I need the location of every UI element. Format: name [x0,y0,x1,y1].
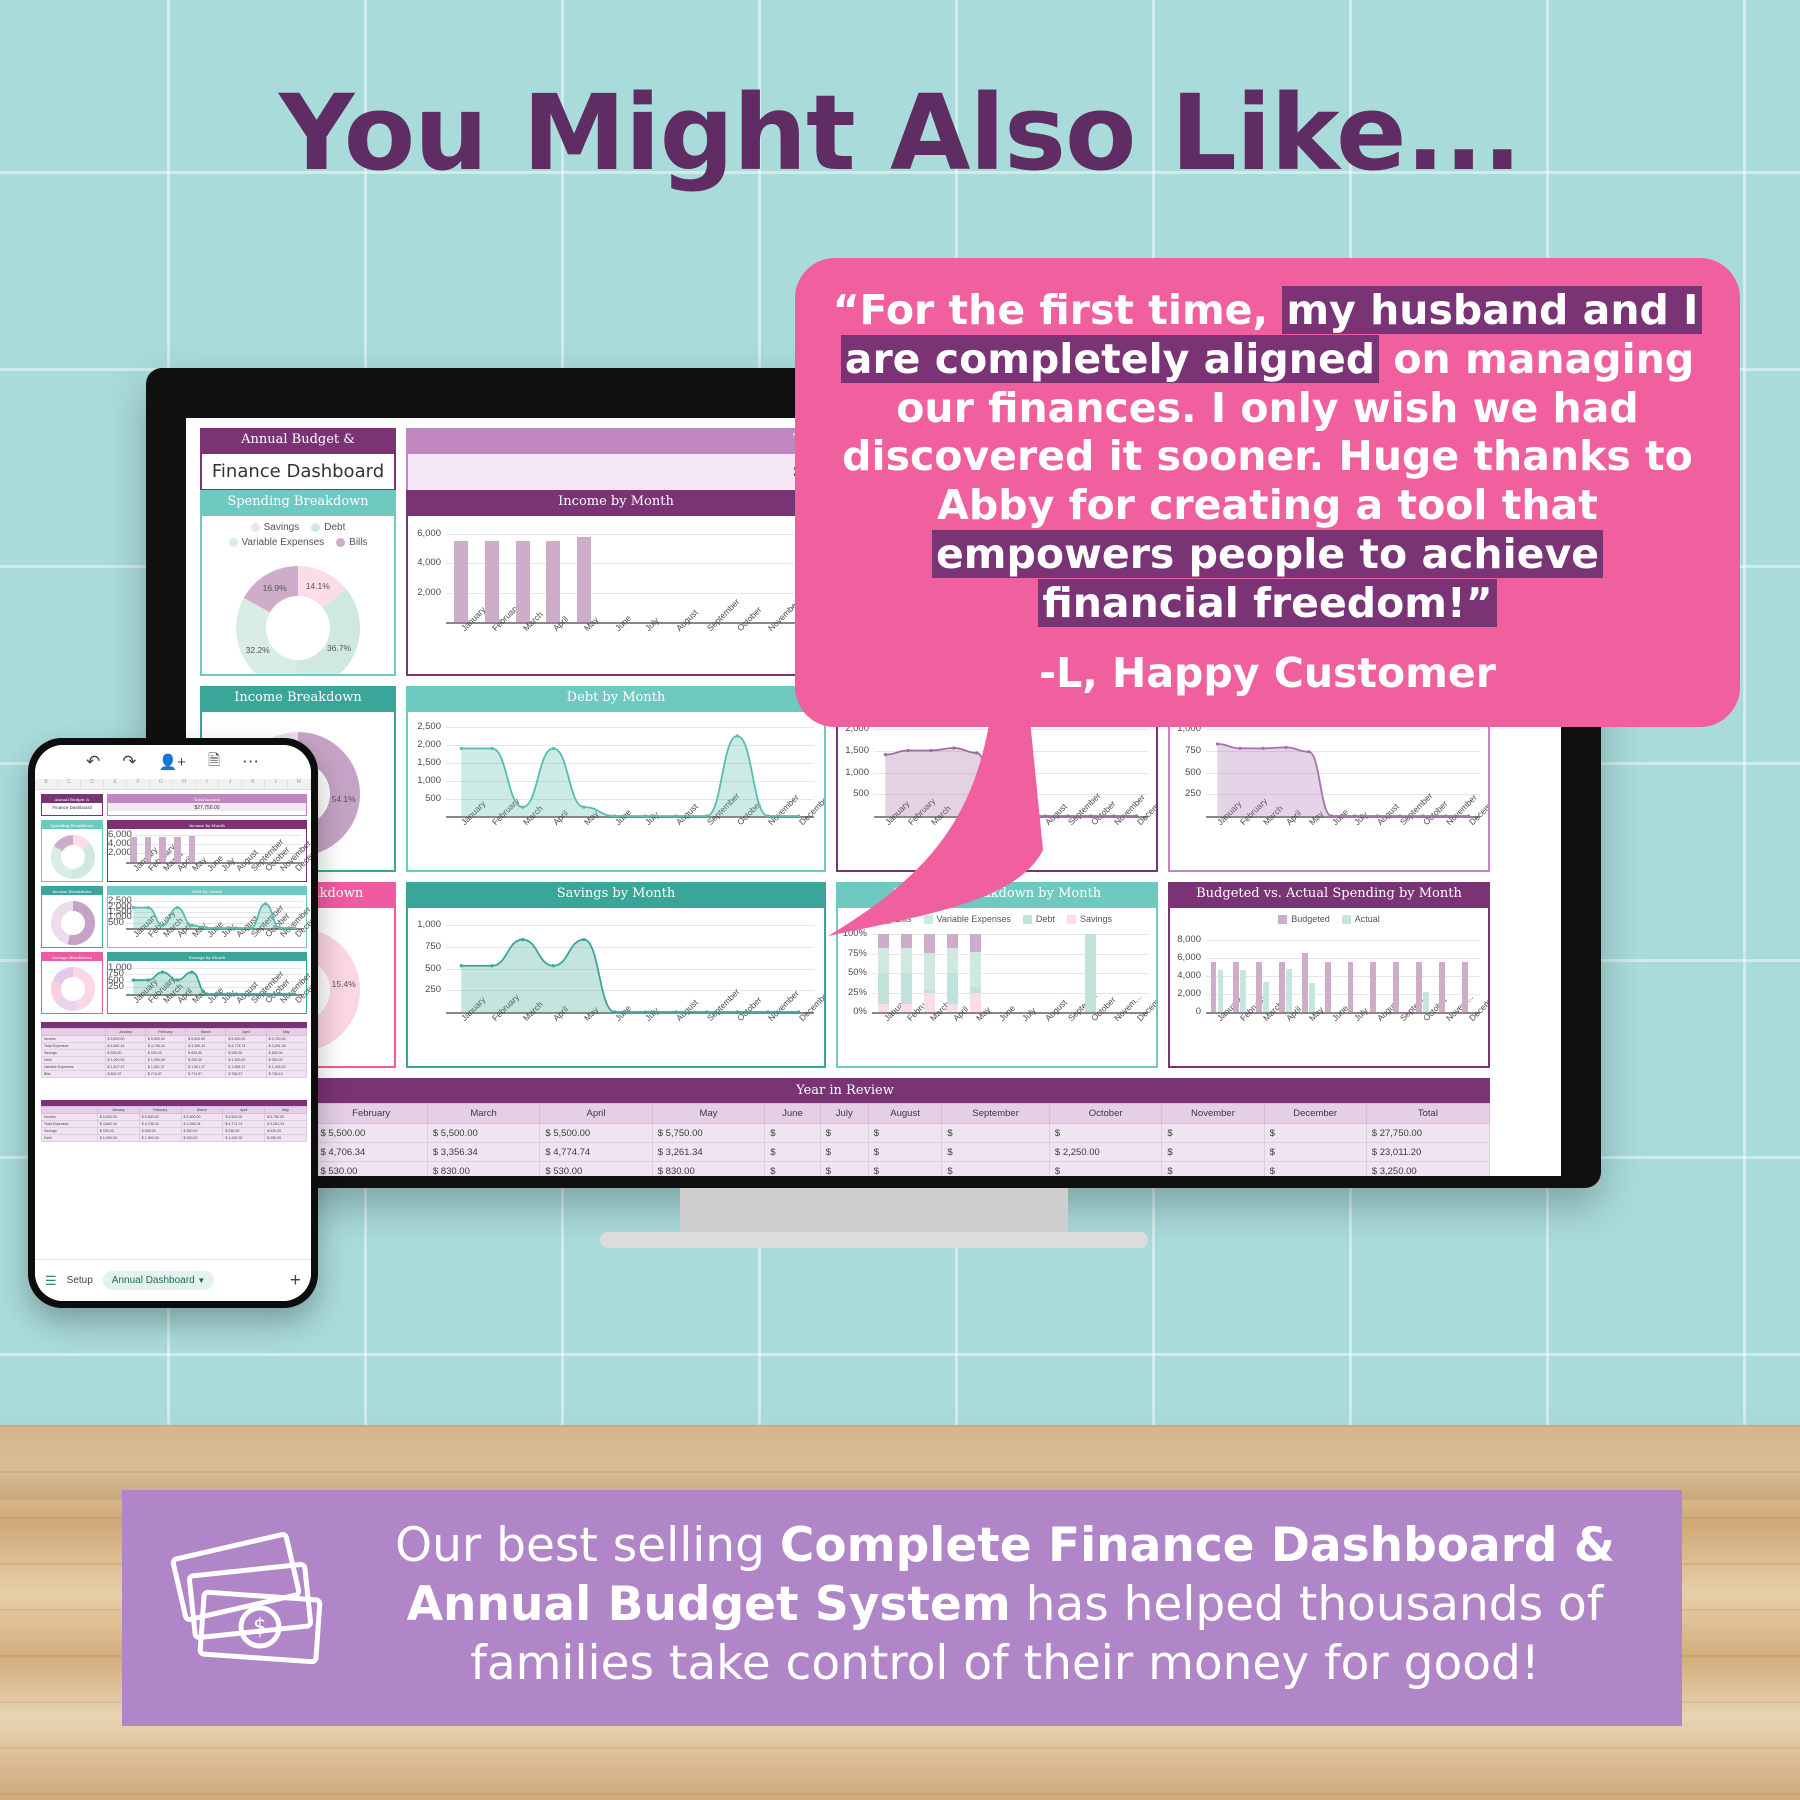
table-row: Savings$ 530.00$ 530.00$ 830.00$ 530.00$… [42,1050,307,1057]
data-point [234,926,237,929]
column-header: February [145,1029,185,1036]
data-point [264,902,267,905]
testimonial-segment-0: “For the first time, [833,286,1283,334]
table-cell: $ 530.00 [139,1128,181,1135]
column-header: May [652,1104,764,1124]
bar [1439,962,1445,1012]
table-cell: $ [765,1124,821,1143]
data-point [644,815,647,818]
savings-by-month-area [108,962,306,1012]
legend-label: Savings [1080,914,1112,924]
y-tick-label: 25% [838,987,867,998]
stack-segment [901,973,913,1004]
data-point [1135,815,1138,818]
data-point [1307,750,1310,753]
stack-segment [947,1004,959,1013]
table-cell: $ 4,774.74 [223,1121,265,1128]
phone-savings-by-month-title: Savings by Month [108,953,306,961]
donut-value-label: 16.9% [255,583,295,593]
column-header: February [139,1107,181,1114]
debt-by-month-panel-title: Debt by Month [406,686,826,710]
legend-swatch [1278,915,1287,924]
x-tick-label: August [1043,998,1069,1024]
data-point [1261,747,1264,750]
donut-slice [295,599,345,676]
data-point [1467,815,1470,818]
x-tick-label: September [705,597,741,633]
data-point [644,1011,647,1014]
table-cell: $ [868,1124,942,1143]
y-tick-label: 6,000 [1170,952,1201,963]
row-label: Debt [42,1135,98,1142]
donut-slice [58,998,76,1006]
phone-total-income-title: Total Income [108,795,306,803]
table-cell: $ 1,501.37 [186,1064,226,1071]
bar [1302,953,1308,1012]
row-label: Savings [42,1128,98,1135]
phone-savings-breakdown-title: Savings Breakdown [42,953,102,961]
chart-legend: BudgetedActual [1170,908,1488,926]
x-tick-label: August [674,608,700,634]
table-cell: $ 830.00 [265,1128,307,1135]
budgeted-vs-actual-panel-body: BudgetedActual02,0004,0006,0008,000Janua… [1168,906,1490,1068]
data-point [161,924,164,927]
table-cell: $ [1162,1143,1264,1162]
table-cell: $ 774.97 [186,1071,226,1078]
table-cell: $ [1049,1124,1161,1143]
svg-text:$: $ [253,1615,267,1640]
gridline [1206,940,1480,941]
chevron-down-icon[interactable]: ▼ [197,1276,205,1285]
bills-by-month-area [1170,712,1488,870]
table-cell: $ 530.00 [97,1128,139,1135]
phone-screen: ↶ ↷ 👤+ 🗎 ⋯ BCDEFGHIJKLM Annual Budget &F… [35,745,311,1301]
phone-column-letter: M [288,779,311,789]
bar [1211,962,1217,1013]
x-tick-label: June [613,613,633,633]
budgeted-vs-actual-panel-title: Budgeted vs. Actual Spending by Month [1168,882,1490,906]
savings-by-month-area [408,908,824,1066]
table-cell: $ [820,1143,868,1162]
table-row: Income$ 5,500.00$ 5,500.00$ 5,500.00$ 5,… [42,1114,307,1121]
bar [159,837,166,862]
phone-chart-area: 2,0004,0006,000JanuaryFebruaryMarchApril… [108,830,306,880]
legend-item: Savings [251,522,300,533]
table-header-row: JanuaryFebruaryMarchAprilMay [42,1107,307,1114]
table-cell: $ 5,500.00 [181,1114,223,1121]
column-header: May [265,1107,307,1114]
legend-swatch [251,523,260,532]
data-point [460,747,463,750]
promo-text: Our best selling Complete Finance Dashbo… [368,1516,1642,1694]
table-cell: $ 530.00 [226,1050,266,1057]
phone-column-letter: H [173,779,196,789]
data-point [220,926,223,929]
testimonial-attribution: -L, Happy Customer [829,649,1706,697]
table-cell: $ [1264,1162,1366,1177]
income-by-month-panel: Income by Month2,0004,0006,000JanuaryFeb… [406,490,826,676]
phone-column-headers: BCDEFGHIJKLM [35,779,311,790]
donut-slice [56,849,72,874]
area-fill [461,940,798,1012]
table-cell: $ 3,261.34 [265,1121,307,1128]
phone-column-letter: E [104,779,127,789]
phone-column-letter: C [58,779,81,789]
phone-column-letter: K [242,779,265,789]
phone-chart-area: 2505007501,000JanuaryFebruaryMarchAprilM… [108,962,306,1012]
table-cell: $ 830.00 [266,1050,306,1057]
spending-breakdown-panel-title: Spending Breakdown [200,490,396,514]
legend-swatch [1342,915,1351,924]
table-cell: $ 4,774.74 [226,1043,266,1050]
gridline [446,563,814,564]
phone-spending-breakdown-title: Spending Breakdown [42,821,102,829]
add-person-icon[interactable]: 👤+ [159,753,186,771]
table-cell: $ [868,1162,942,1177]
row-label: Total Expenses [42,1043,106,1050]
data-point [132,978,135,981]
column-header: September [942,1104,1050,1124]
table-cell: $ 3,261.34 [652,1143,764,1162]
row-label: Total Expenses [42,1121,98,1128]
legend-label: Savings [264,522,300,533]
data-point [1284,746,1287,749]
column-header [42,1029,106,1036]
stack-segment [878,973,890,1004]
data-point [797,815,800,818]
spending-breakdown-panel-body: SavingsDebtVariable ExpensesBills14.1%36… [200,514,396,676]
more-icon[interactable]: ⋯ [242,752,260,772]
income-by-month-panel-body: 2,0004,0006,000JanuaryFebruaryMarchApril… [406,514,826,676]
data-point [190,971,193,974]
bar [1462,962,1468,1012]
income-by-month-panel-title: Income by Month [406,490,826,514]
data-point [490,747,493,750]
data-point [521,806,524,809]
table-cell: $ 774.97 [145,1071,185,1078]
table-cell: $ 530.00 [145,1050,185,1057]
table-cell: $ 786.37 [226,1071,266,1078]
table-cell: $ 4,706.34 [139,1121,181,1128]
table-cell: $ [765,1143,821,1162]
table-row: Debt$ 1,900.00$ 1,900.00$ 250.00$ 1,900.… [42,1057,307,1064]
x-tick-label: July [643,616,661,634]
table-cell: $ 5,500.00 [315,1124,427,1143]
phone-year-in-review: JanuaryFebruaryMarchAprilMayIncome$ 5,50… [41,1022,307,1078]
table-cell: $ 5,500.00 [226,1036,266,1043]
column-header: April [540,1104,652,1124]
data-point [161,971,164,974]
undo-icon[interactable]: ↶ [86,752,100,772]
table-cell: $ 830.00 [186,1050,226,1057]
area-fill [461,736,798,816]
data-point [797,1011,800,1014]
data-point [1216,743,1219,746]
chart-legend: SavingsDebtVariable ExpensesBills [202,516,394,550]
phone-toolbar: ↶ ↷ 👤+ 🗎 ⋯ [35,745,311,779]
legend-item: Debt [311,522,345,533]
table-cell: $ 3,356.34 [186,1043,226,1050]
donut-slice [57,972,73,982]
bar [516,541,530,622]
table-cell: $ 1,900.00 [145,1057,185,1064]
donut-slice [58,840,73,849]
bar [174,837,181,862]
phone-secondary-table-table: JanuaryFebruaryMarchAprilMayIncome$ 5,50… [41,1106,307,1142]
gridline [446,593,814,594]
bar [454,541,468,622]
data-point [1089,815,1092,818]
phone-savings-breakdown: Savings Breakdown [41,952,103,1014]
legend-item: Budgeted [1278,914,1330,924]
table-row: Income$ 5,500.00$ 5,500.00$ 5,500.00$ 5,… [201,1124,1490,1143]
phone-debt-by-month: Debt by Month5001,0001,5002,0002,500Janu… [107,886,307,948]
phone-device: ↶ ↷ 👤+ 🗎 ⋯ BCDEFGHIJKLM Annual Budget &F… [28,738,318,1308]
y-tick-label: 6,000 [408,528,441,539]
table-cell: $ 5,500.00 [97,1114,139,1121]
legend-label: Variable Expenses [242,537,325,548]
gridline [446,534,814,535]
table-header-row: JanuaryFebruaryMarchAprilMayJuneJulyAugu… [201,1104,1490,1124]
data-point [146,906,149,909]
table-cell: $ [942,1162,1050,1177]
legend-label: Budgeted [1291,914,1330,924]
table-cell: $ 830.00 [652,1162,764,1177]
data-point [146,978,149,981]
data-point [1239,747,1242,750]
stack-segment [970,987,982,993]
data-point [582,938,585,941]
debt-by-month-area [108,896,306,946]
data-point [249,992,252,995]
speech-bubble-tail [828,700,1068,940]
bar [546,541,560,622]
data-point [176,978,179,981]
brand-header: Annual Budget & [200,428,396,452]
gridline [1206,958,1480,959]
year-in-review-table: Year in ReviewJanuaryFebruaryMarchAprilM… [200,1078,1490,1176]
table-cell: $ 4,706.34 [145,1043,185,1050]
data-point [278,992,281,995]
row-label: Income [42,1114,98,1121]
brand-value: Finance Dashboard [200,452,396,491]
add-sheet-button[interactable]: + [290,1270,301,1292]
stack-segment [924,990,936,993]
bar [1348,962,1354,1012]
phone-total-income: Total Income$27,750.00 [107,794,307,816]
data-point [1330,815,1333,818]
sheet-tab-setup[interactable]: Setup [67,1275,93,1286]
table-cell: $ 5,500.00 [223,1114,265,1121]
y-tick-label: 8,000 [1170,934,1201,945]
phone-column-letter: G [150,779,173,789]
table-row: Bills$ 824.97$ 774.97$ 774.97$ 786.37$ 7… [42,1071,307,1078]
gridline [126,835,302,836]
table-cell: $ 5,500.00 [540,1124,652,1143]
year-in-review-title: Year in Review [200,1078,1490,1103]
column-header: June [765,1104,821,1124]
table-cell: $ 3,356.34 [181,1121,223,1128]
y-tick-label: 4,000 [408,557,441,568]
sheet-tab-annual-dashboard[interactable]: Annual Dashboard ▼ [103,1271,215,1290]
bar [1218,970,1224,1012]
bar [1416,962,1422,1012]
donut-slice [56,982,58,998]
table-cell: $ 530.00 [315,1162,427,1177]
phone-column-letter: L [265,779,288,789]
data-point [220,992,223,995]
y-tick-label: 50% [838,967,867,978]
data-point [460,964,463,967]
promo-part-1: Our best selling [395,1518,780,1573]
table-cell: $ 5,750.00 [652,1124,764,1143]
legend-label: Debt [324,522,345,533]
testimonial-segment-7: financial freedom!” [1038,579,1496,627]
budgeted-vs-actual-panel: Budgeted vs. Actual Spending by MonthBud… [1168,882,1490,1068]
phone-income-by-month: Income by Month2,0004,0006,000JanuaryFeb… [107,820,307,882]
table-cell: $ 1,407.47 [105,1064,145,1071]
phone-year-in-review-table: JanuaryFebruaryMarchAprilMayIncome$ 5,50… [41,1028,307,1078]
stack-segment [947,948,959,973]
hamburger-icon[interactable]: ☰ [45,1273,57,1289]
table-row: Total Expenses$ 4,662.44$ 4,706.34$ 3,35… [42,1043,307,1050]
table-cell: $ 1,445.22 [266,1064,306,1071]
row-label: Debt [42,1057,106,1064]
table-cell: $ 250.00 [265,1135,307,1142]
table-cell: $ 5,500.00 [139,1114,181,1121]
redo-icon[interactable]: ↷ [122,752,136,772]
debt-by-month-panel: Debt by Month5001,0001,5002,0002,500Janu… [406,686,826,872]
donut-slice [69,906,90,940]
y-tick-label: 0% [838,1006,867,1017]
table-cell: $ 1,900.00 [226,1057,266,1064]
stack-segment [1085,934,1097,1012]
legend-label: Actual [1355,914,1380,924]
phone-income-breakdown: Income Breakdown [41,886,103,948]
area-fill [1217,744,1468,816]
x-tick-label: October [735,605,763,633]
table-row: Total Expenses$ 4,662.44$ 4,706.34$ 3,35… [42,1121,307,1128]
table-cell: $ [1162,1124,1264,1143]
table-cell: $ 530.00 [540,1162,652,1177]
bar [1279,962,1285,1013]
table-row: Total Expenses$ 4,662.44$ 4,706.34$ 3,35… [201,1143,1490,1162]
donut-value-label: 36.7% [319,643,359,653]
table-cell: $ 5,500.00 [105,1036,145,1043]
table-cell: $ 5,500.00 [145,1036,185,1043]
table-cell: $ 1,900.00 [139,1135,181,1142]
data-point [293,926,296,929]
promo-banner: $ Our best selling Complete Finance Dash… [122,1490,1682,1726]
table-row: Variable Expenses$ 1,407.47$ 1,501.37$ 1… [42,1064,307,1071]
column-header: March [181,1107,223,1114]
bar [1370,962,1376,1012]
monitor-neck [680,1188,1068,1236]
data-point [1353,815,1356,818]
column-header [42,1107,98,1114]
stack-segment [878,1004,890,1013]
column-header: May [266,1029,306,1036]
gridline [872,973,1148,974]
table-cell: $ 736.12 [266,1071,306,1078]
data-point [1398,815,1401,818]
data-point [766,815,769,818]
bar [1423,992,1429,1012]
bar [1256,962,1262,1012]
phone-brand-value: Finance Dashboard [42,803,102,810]
table-header-row: JanuaryFebruaryMarchAprilMay [42,1029,307,1036]
table-cell: $ 250.00 [266,1057,306,1064]
table-cell: $ 4,662.44 [97,1121,139,1128]
year-table: JanuaryFebruaryMarchAprilMayJuneJulyAugu… [200,1103,1490,1176]
bar [1286,969,1292,1012]
data-point [736,1011,739,1014]
stack-segment [901,1004,913,1013]
table-cell: $ 2,250.00 [1049,1143,1161,1162]
data-point [1421,815,1424,818]
donut-value-label: 14.1% [298,581,338,591]
column-header: March [186,1029,226,1036]
data-point [766,1011,769,1014]
phone-spending-breakdown: Spending Breakdown [41,820,103,882]
bar [145,837,152,862]
column-header: January [97,1107,139,1114]
table-cell: $ 250.00 [181,1135,223,1142]
data-point [205,926,208,929]
column-header: January [105,1029,145,1036]
bar [1263,982,1269,1012]
donut-slice [72,846,90,874]
table-row: Income$ 5,500.00$ 5,500.00$ 5,500.00$ 5,… [42,1036,307,1043]
phone-column-letter: I [196,779,219,789]
legend-item: Bills [336,537,367,548]
column-header: July [820,1104,868,1124]
column-header: October [1049,1104,1161,1124]
savings-breakdown-donut [49,965,97,1013]
gridline [872,954,1148,955]
donut-slice [56,906,73,939]
bar [485,541,499,622]
bar [130,837,137,862]
phone-total-income-value: $27,750.00 [108,803,306,811]
legend-swatch [229,538,238,547]
data-point [521,938,524,941]
column-header: December [1264,1104,1366,1124]
phone-income-breakdown-title: Income Breakdown [42,887,102,895]
data-point [552,964,555,967]
phone-debt-by-month-title: Debt by Month [108,887,306,895]
data-point [552,747,555,750]
stack-segment [970,993,982,1013]
phone-sheet-tabs: ☰ Setup Annual Dashboard ▼ + [35,1259,311,1301]
data-point [674,815,677,818]
table-cell: $ [942,1124,1050,1143]
comment-icon[interactable]: 🗎 [208,750,220,775]
stack-segment [924,993,936,1013]
legend-swatch [1067,915,1076,924]
data-point [176,906,179,909]
table-cell: $ [765,1162,821,1177]
table-cell: $ 250.00 [186,1057,226,1064]
column-header: March [427,1104,539,1124]
testimonial-text: “For the first time, my husband and I ar… [829,286,1706,627]
legend-item: Savings [1067,914,1112,924]
row-label: Variable Expenses [42,1064,106,1071]
table-cell: $ 3,356.34 [427,1143,539,1162]
data-point [705,815,708,818]
data-point [582,806,585,809]
phone-income-by-month-title: Income by Month [108,821,306,829]
